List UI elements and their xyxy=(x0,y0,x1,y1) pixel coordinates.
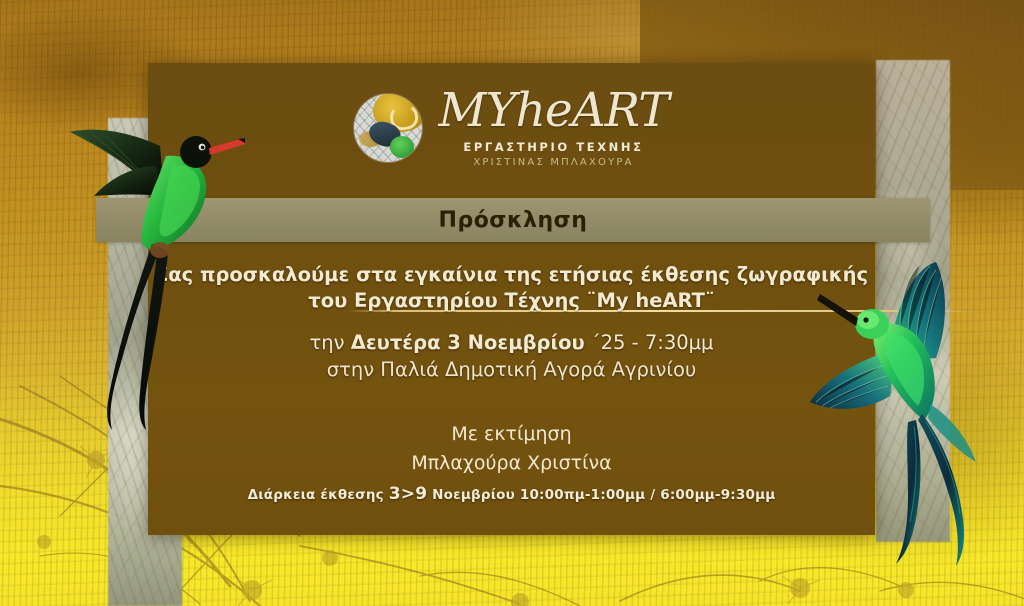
brand-wordmark: MYheART xyxy=(438,89,668,134)
duration-hours: 10:00πμ-1:00μμ / 6:00μμ-9:30μμ xyxy=(520,487,775,503)
duration-dates: 3>9 xyxy=(389,484,428,504)
brand-inline: My heART xyxy=(596,289,705,312)
body-line-2-suffix: ¨ xyxy=(705,289,715,312)
logo-text-block: MYheART ΕΡΓΑΣΤΗΡΙΟ ΤΕΧΝΗΣ ΧΡΙΣΤΙΝΑΣ ΜΠΛΑ… xyxy=(438,89,668,168)
myheart-logo-icon xyxy=(354,94,422,162)
event-date-line: την Δευτέρα 3 Νοεμβρίου ΄25 - 7:30μμ xyxy=(148,329,875,356)
logo-block: MYheART ΕΡΓΑΣΤΗΡΙΟ ΤΕΧΝΗΣ ΧΡΙΣΤΙΝΑΣ ΜΠΛΑ… xyxy=(148,89,875,168)
body-line-1: Σας προσκαλούμε στα εγκαίνια της ετήσιας… xyxy=(148,262,875,288)
body-line-2: του Εργαστηρίου Τέχνης ¨My heART¨ xyxy=(148,288,875,314)
duration-label: Διάρκεια έκθεσης xyxy=(248,487,389,503)
brand-subtitle-1: ΕΡΓΑΣΤΗΡΙΟ ΤΕΧΝΗΣ xyxy=(463,140,643,154)
event-venue-line: στην Παλιά Δημοτική Αγορά Αγρινίου xyxy=(148,356,875,384)
exhibition-duration: Διάρκεια έκθεσης 3>9 Νοεμβρίου 10:00πμ-1… xyxy=(148,484,875,504)
signature-line-1: Με εκτίμηση xyxy=(148,420,875,449)
date-bold: Δευτέρα 3 Νοεμβρίου xyxy=(351,331,585,354)
date-suffix: ΄25 - 7:30μμ xyxy=(585,331,714,354)
brand-subtitle-2: ΧΡΙΣΤΙΝΑΣ ΜΠΛΑΧΟΥΡΑ xyxy=(473,157,633,168)
date-prefix: την xyxy=(310,331,351,354)
invitation-screenshot: MYheART ΕΡΓΑΣΤΗΡΙΟ ΤΕΧΝΗΣ ΧΡΙΣΤΙΝΑΣ ΜΠΛΑ… xyxy=(0,0,1024,606)
body-line-2-prefix: του Εργαστηρίου Τέχνης ¨ xyxy=(308,289,596,312)
invitation-body: Σας προσκαλούμε στα εγκαίνια της ετήσιας… xyxy=(148,262,875,477)
signature-line-2: Μπλαχούρα Χριστίνα xyxy=(148,449,875,478)
signature-block: Με εκτίμηση Μπλαχούρα Χριστίνα xyxy=(148,420,875,477)
hummingbird-right xyxy=(796,262,1021,574)
duration-month: Νοεμβρίου xyxy=(427,487,520,503)
banner-title: Πρόσκληση xyxy=(439,208,588,233)
hummingbird-left xyxy=(48,104,248,434)
